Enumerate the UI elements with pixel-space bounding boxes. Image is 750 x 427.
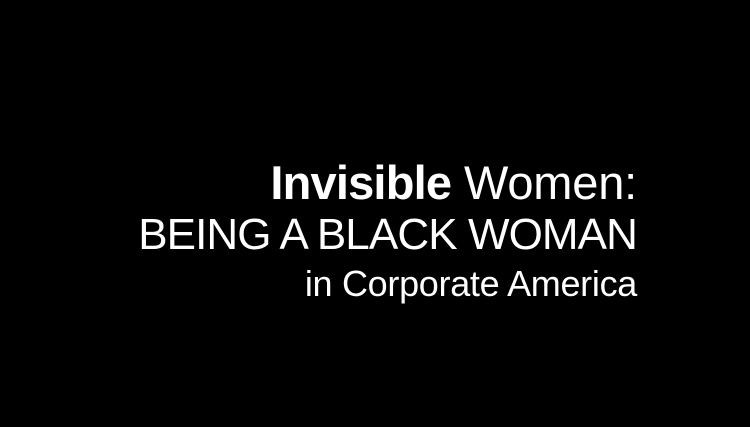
title-word-invisible: Invisible xyxy=(270,156,451,209)
title-block: Invisible Women: BEING A BLACK WOMAN in … xyxy=(0,158,637,304)
title-line-secondary: BEING A BLACK WOMAN xyxy=(0,211,637,259)
title-line-tertiary: in Corporate America xyxy=(0,264,637,304)
title-line-primary: Invisible Women: xyxy=(0,158,637,208)
title-word-women: Women: xyxy=(451,156,637,209)
title-slide: Invisible Women: BEING A BLACK WOMAN in … xyxy=(0,0,750,427)
